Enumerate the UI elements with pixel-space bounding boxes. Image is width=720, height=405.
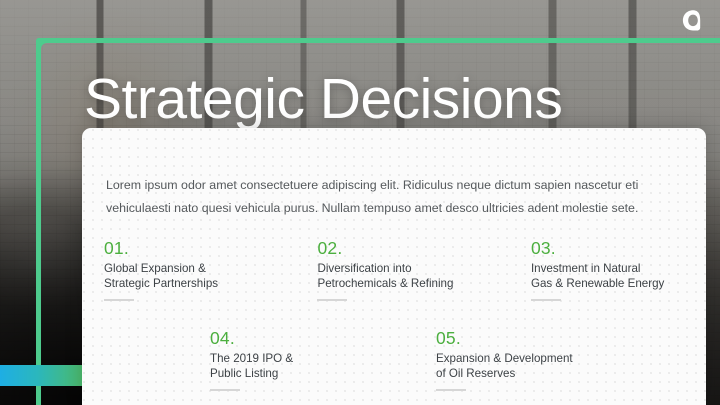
item-label: Diversification into Petrochemicals & Re… [317, 262, 530, 291]
gradient-accent-bar [0, 365, 83, 386]
item-label: The 2019 IPO & Public Listing [210, 352, 436, 381]
item-divider [104, 299, 134, 301]
items-row-top: 01. Global Expansion & Strategic Partner… [104, 238, 704, 301]
item-divider [436, 389, 466, 391]
page-title: Strategic Decisions [84, 68, 562, 130]
list-item[interactable]: 02. Diversification into Petrochemicals … [317, 238, 530, 301]
item-divider [210, 389, 240, 391]
item-divider [317, 299, 347, 301]
item-number: 01. [104, 238, 317, 259]
item-number: 05. [436, 328, 676, 349]
list-item[interactable]: 03. Investment in Natural Gas & Renewabl… [531, 238, 704, 301]
items-row-bottom: 04. The 2019 IPO & Public Listing 05. Ex… [210, 328, 706, 391]
content-card: Lorem ipsum odor amet consectetuere adip… [82, 128, 706, 405]
list-item[interactable]: 04. The 2019 IPO & Public Listing [210, 328, 436, 391]
item-label: Expansion & Development of Oil Reserves [436, 352, 676, 381]
decorative-frame-top-line [36, 38, 720, 43]
item-number: 02. [317, 238, 530, 259]
decorative-frame-corner [36, 38, 58, 60]
item-number: 03. [531, 238, 704, 259]
item-label: Investment in Natural Gas & Renewable En… [531, 262, 704, 291]
intro-paragraph: Lorem ipsum odor amet consectetuere adip… [106, 174, 686, 220]
list-item[interactable]: 05. Expansion & Development of Oil Reser… [436, 328, 676, 391]
brand-logo-icon [680, 8, 706, 34]
presentation-slide: Strategic Decisions Lorem ipsum odor ame… [0, 0, 720, 405]
item-divider [531, 299, 561, 301]
item-number: 04. [210, 328, 436, 349]
list-item[interactable]: 01. Global Expansion & Strategic Partner… [104, 238, 317, 301]
item-label: Global Expansion & Strategic Partnership… [104, 262, 317, 291]
decorative-frame-left-line [36, 38, 41, 405]
